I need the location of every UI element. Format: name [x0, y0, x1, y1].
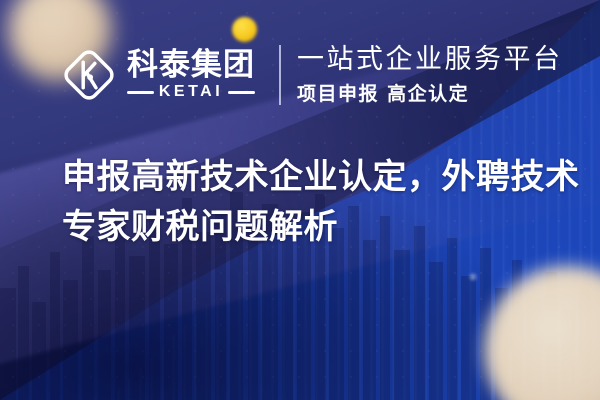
wordmark-rule-left [127, 91, 154, 94]
headline-line-1: 申报高新技术企业认定，外聘技术 [62, 152, 562, 202]
brand-name-en-row: KETAI [127, 83, 255, 101]
brand-name-cn: 科泰集团 [127, 49, 255, 81]
ketai-diamond-logo-icon [60, 46, 118, 104]
brand-wordmark: 科泰集团 KETAI [127, 49, 255, 101]
promotional-banner: 科泰集团 KETAI 一站式企业服务平台 项目申报 高企认定 申报高新技术企业认… [0, 0, 600, 400]
faint-spark-icon [468, 272, 478, 282]
tagline-block: 一站式企业服务平台 项目申报 高企认定 [297, 44, 563, 107]
tagline-sub: 项目申报 高企认定 [297, 82, 563, 107]
headline-line-2: 专家财税问题解析 [62, 202, 562, 252]
brand-logo: 科泰集团 KETAI [60, 46, 255, 104]
tagline-main: 一站式企业服务平台 [297, 44, 563, 76]
banner-header: 科泰集团 KETAI 一站式企业服务平台 项目申报 高企认定 [60, 38, 563, 112]
brand-name-en: KETAI [159, 83, 223, 101]
headline-block: 申报高新技术企业认定，外聘技术 专家财税问题解析 [62, 152, 562, 252]
wordmark-rule-right [228, 91, 255, 94]
header-divider [279, 45, 281, 105]
